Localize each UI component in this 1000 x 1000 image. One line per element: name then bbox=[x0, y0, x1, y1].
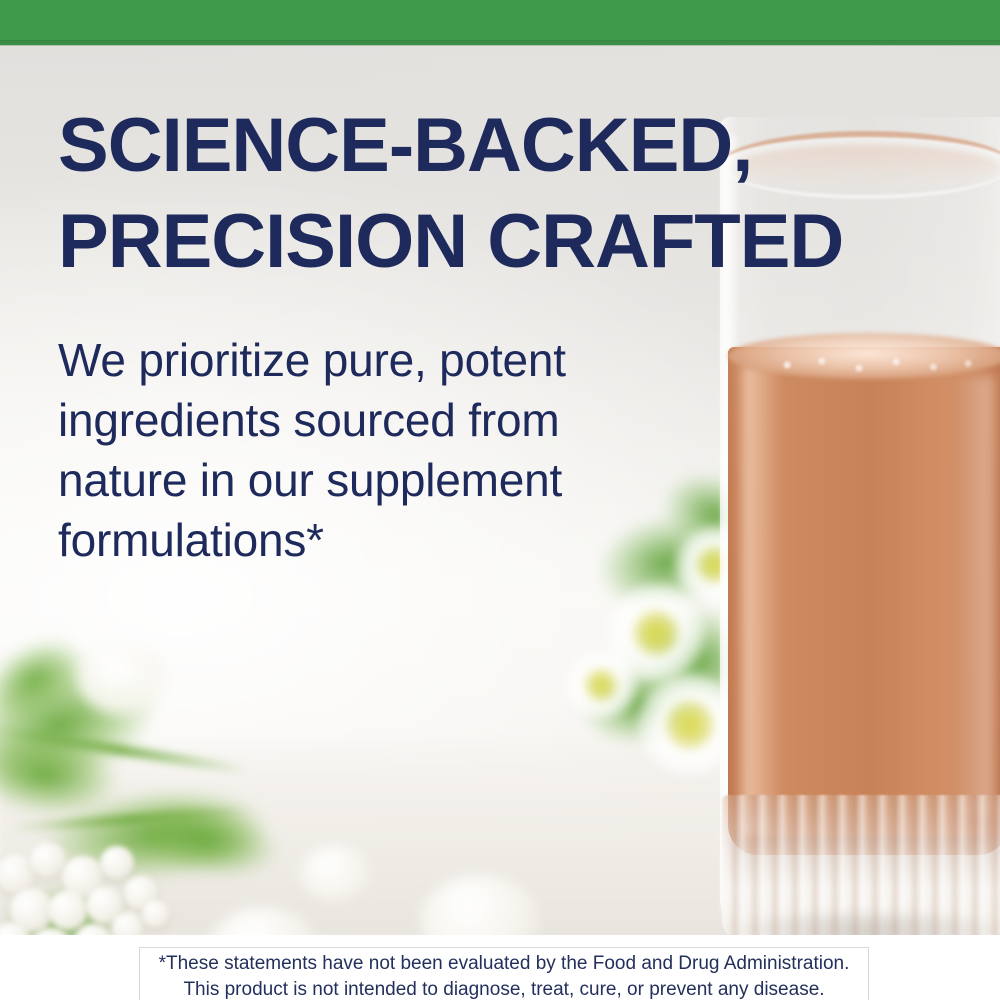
white-flower-cluster bbox=[0, 840, 220, 935]
liquid-bubbles bbox=[734, 345, 1000, 385]
fda-disclaimer: *These statements have not been evaluate… bbox=[139, 947, 869, 1000]
chamomile-flower-icon bbox=[566, 651, 636, 719]
top-green-bar bbox=[0, 0, 1000, 45]
liquid-highlight bbox=[742, 365, 782, 835]
blurred-flower bbox=[78, 645, 168, 715]
liquid-highlight bbox=[950, 375, 994, 815]
subheading-copy: We prioritize pure, potent ingredients s… bbox=[58, 330, 678, 570]
footer-bar: *These statements have not been evaluate… bbox=[0, 935, 1000, 1000]
product-banner: SCIENCE-BACKED, PRECISION CRAFTED We pri… bbox=[0, 0, 1000, 1000]
blurred-flower bbox=[300, 845, 370, 901]
top-green-bar-shadow bbox=[0, 40, 1000, 46]
page-title: SCIENCE-BACKED, PRECISION CRAFTED bbox=[58, 98, 938, 290]
